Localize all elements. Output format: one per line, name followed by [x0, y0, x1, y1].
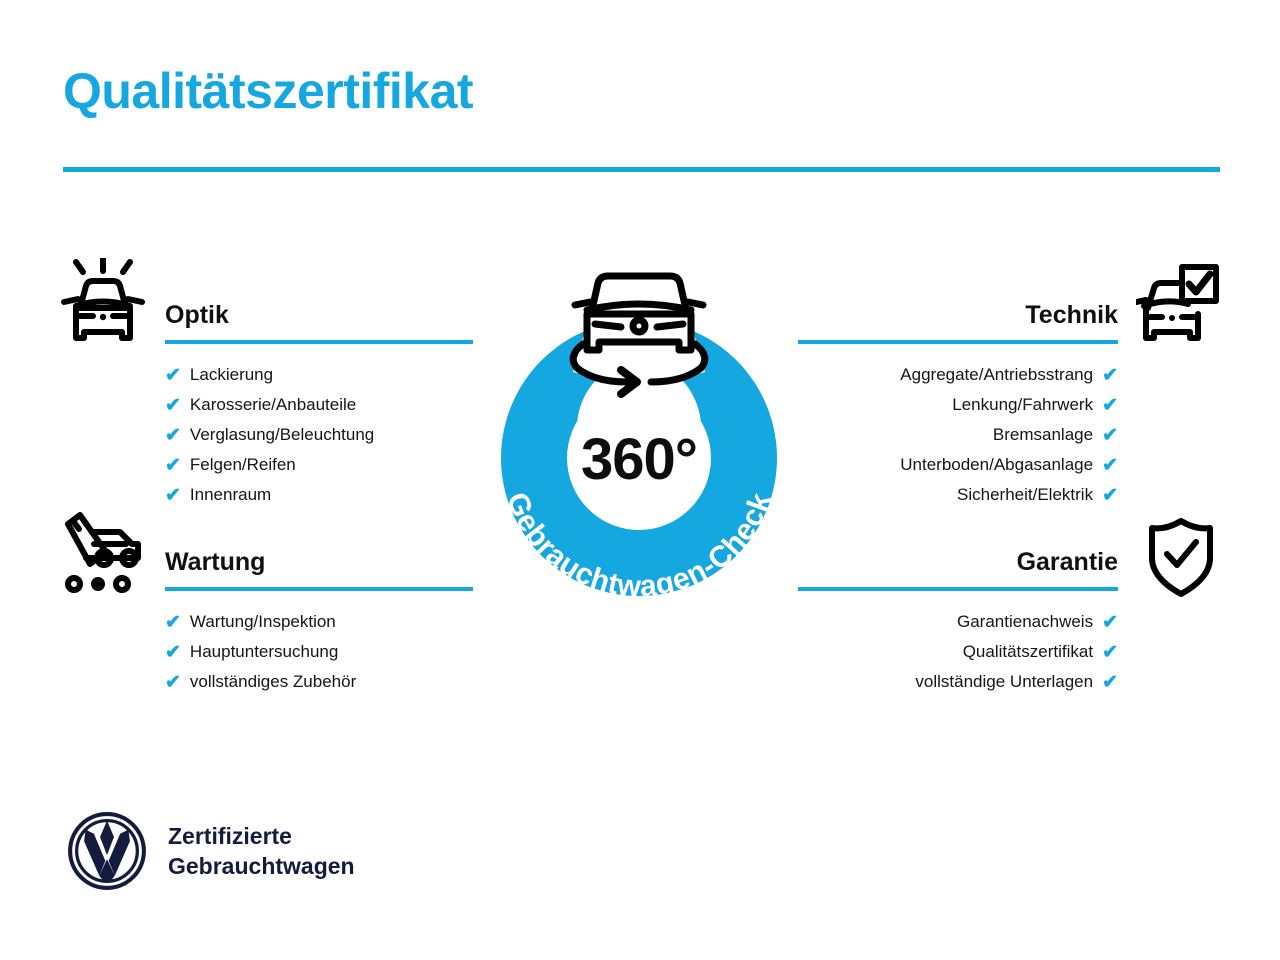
- footer-brand-lockup: Zertifizierte Gebrauchtwagen: [66, 810, 355, 892]
- check-icon: ✔: [165, 366, 181, 385]
- section-optik: Optik ✔ Lackierung ✔ Karosserie/Anbautei…: [165, 298, 473, 510]
- check-icon: ✔: [1102, 426, 1118, 445]
- list-item: ✔ vollständiges Zubehör: [165, 667, 473, 697]
- section-optik-divider: [165, 340, 473, 344]
- section-wartung-title: Wartung: [165, 545, 473, 579]
- badge-center-label: 360°: [455, 426, 823, 493]
- check-icon: ✔: [1102, 613, 1118, 632]
- list-item-label: Unterboden/Abgasanlage: [900, 455, 1093, 475]
- quality-certificate-page: Qualitätszertifikat: [0, 0, 1280, 960]
- list-item: Qualitätszertifikat ✔: [798, 637, 1118, 667]
- section-technik: Technik Aggregate/Antriebsstrang ✔ Lenku…: [798, 298, 1118, 510]
- list-item-label: Karosserie/Anbauteile: [190, 395, 356, 415]
- section-garantie-divider: [798, 587, 1118, 591]
- check-icon: ✔: [1102, 643, 1118, 662]
- section-optik-header: Optik: [165, 298, 473, 344]
- section-optik-title: Optik: [165, 298, 473, 332]
- list-item-label: vollständiges Zubehör: [190, 672, 356, 692]
- check-icon: ✔: [165, 426, 181, 445]
- list-item: ✔ Hauptuntersuchung: [165, 637, 473, 667]
- shield-check-icon: [1146, 516, 1216, 598]
- section-wartung-header: Wartung: [165, 545, 473, 591]
- list-item: Aggregate/Antriebsstrang ✔: [798, 360, 1118, 390]
- footer-text-block: Zertifizierte Gebrauchtwagen: [168, 821, 355, 881]
- check-icon: ✔: [165, 673, 181, 692]
- list-item: Unterboden/Abgasanlage ✔: [798, 450, 1118, 480]
- list-item-label: Sicherheit/Elektrik: [957, 485, 1093, 505]
- list-item: vollständige Unterlagen ✔: [798, 667, 1118, 697]
- list-item: ✔ Lackierung: [165, 360, 473, 390]
- section-technik-list: Aggregate/Antriebsstrang ✔ Lenkung/Fahrw…: [798, 360, 1118, 510]
- list-item-label: Felgen/Reifen: [190, 455, 296, 475]
- section-garantie-title: Garantie: [798, 545, 1118, 579]
- list-item-label: Garantienachweis: [957, 612, 1093, 632]
- list-item: ✔ Innenraum: [165, 480, 473, 510]
- list-item: Garantienachweis ✔: [798, 607, 1118, 637]
- check-icon: ✔: [165, 486, 181, 505]
- list-item: Lenkung/Fahrwerk ✔: [798, 390, 1118, 420]
- list-item: ✔ Wartung/Inspektion: [165, 607, 473, 637]
- section-garantie-header: Garantie: [798, 545, 1118, 591]
- list-item-label: vollständige Unterlagen: [915, 672, 1093, 692]
- section-wartung-list: ✔ Wartung/Inspektion ✔ Hauptuntersuchung…: [165, 607, 473, 697]
- section-technik-header: Technik: [798, 298, 1118, 344]
- header-divider: [63, 167, 1220, 172]
- list-item-label: Bremsanlage: [993, 425, 1093, 445]
- car-shine-icon: [60, 258, 146, 350]
- list-item: Bremsanlage ✔: [798, 420, 1118, 450]
- list-item: Sicherheit/Elektrik ✔: [798, 480, 1118, 510]
- list-item-label: Verglasung/Beleuchtung: [190, 425, 374, 445]
- section-garantie-list: Garantienachweis ✔ Qualitätszertifikat ✔…: [798, 607, 1118, 697]
- section-technik-divider: [798, 340, 1118, 344]
- list-item: ✔ Felgen/Reifen: [165, 450, 473, 480]
- section-garantie: Garantie Garantienachweis ✔ Qualitätszer…: [798, 545, 1118, 697]
- check-icon: ✔: [1102, 486, 1118, 505]
- list-item-label: Lackierung: [190, 365, 273, 385]
- list-item: ✔ Karosserie/Anbauteile: [165, 390, 473, 420]
- list-item: ✔ Verglasung/Beleuchtung: [165, 420, 473, 450]
- section-optik-list: ✔ Lackierung ✔ Karosserie/Anbauteile ✔ V…: [165, 360, 473, 510]
- volkswagen-logo-icon: [66, 810, 148, 892]
- badge-360-gebrauchtwagen-check: Gebrauchtwagen-Check: [455, 252, 823, 630]
- page-title: Qualitätszertifikat: [63, 63, 473, 121]
- footer-line-1: Zertifizierte: [168, 821, 355, 851]
- check-icon: ✔: [1102, 366, 1118, 385]
- section-technik-title: Technik: [798, 298, 1118, 332]
- check-icon: ✔: [165, 613, 181, 632]
- check-icon: ✔: [1102, 456, 1118, 475]
- check-icon: ✔: [165, 643, 181, 662]
- list-item-label: Innenraum: [190, 485, 271, 505]
- list-item-label: Qualitätszertifikat: [963, 642, 1093, 662]
- footer-line-2: Gebrauchtwagen: [168, 851, 355, 881]
- list-item-label: Lenkung/Fahrwerk: [952, 395, 1093, 415]
- check-icon: ✔: [165, 456, 181, 475]
- list-item-label: Aggregate/Antriebsstrang: [900, 365, 1093, 385]
- list-item-label: Hauptuntersuchung: [190, 642, 338, 662]
- car-service-tool-icon: [60, 512, 146, 594]
- section-wartung: Wartung ✔ Wartung/Inspektion ✔ Hauptunte…: [165, 545, 473, 697]
- check-icon: ✔: [1102, 396, 1118, 415]
- check-icon: ✔: [1102, 673, 1118, 692]
- check-icon: ✔: [165, 396, 181, 415]
- list-item-label: Wartung/Inspektion: [190, 612, 336, 632]
- section-wartung-divider: [165, 587, 473, 591]
- car-checkbox-icon: [1136, 264, 1220, 346]
